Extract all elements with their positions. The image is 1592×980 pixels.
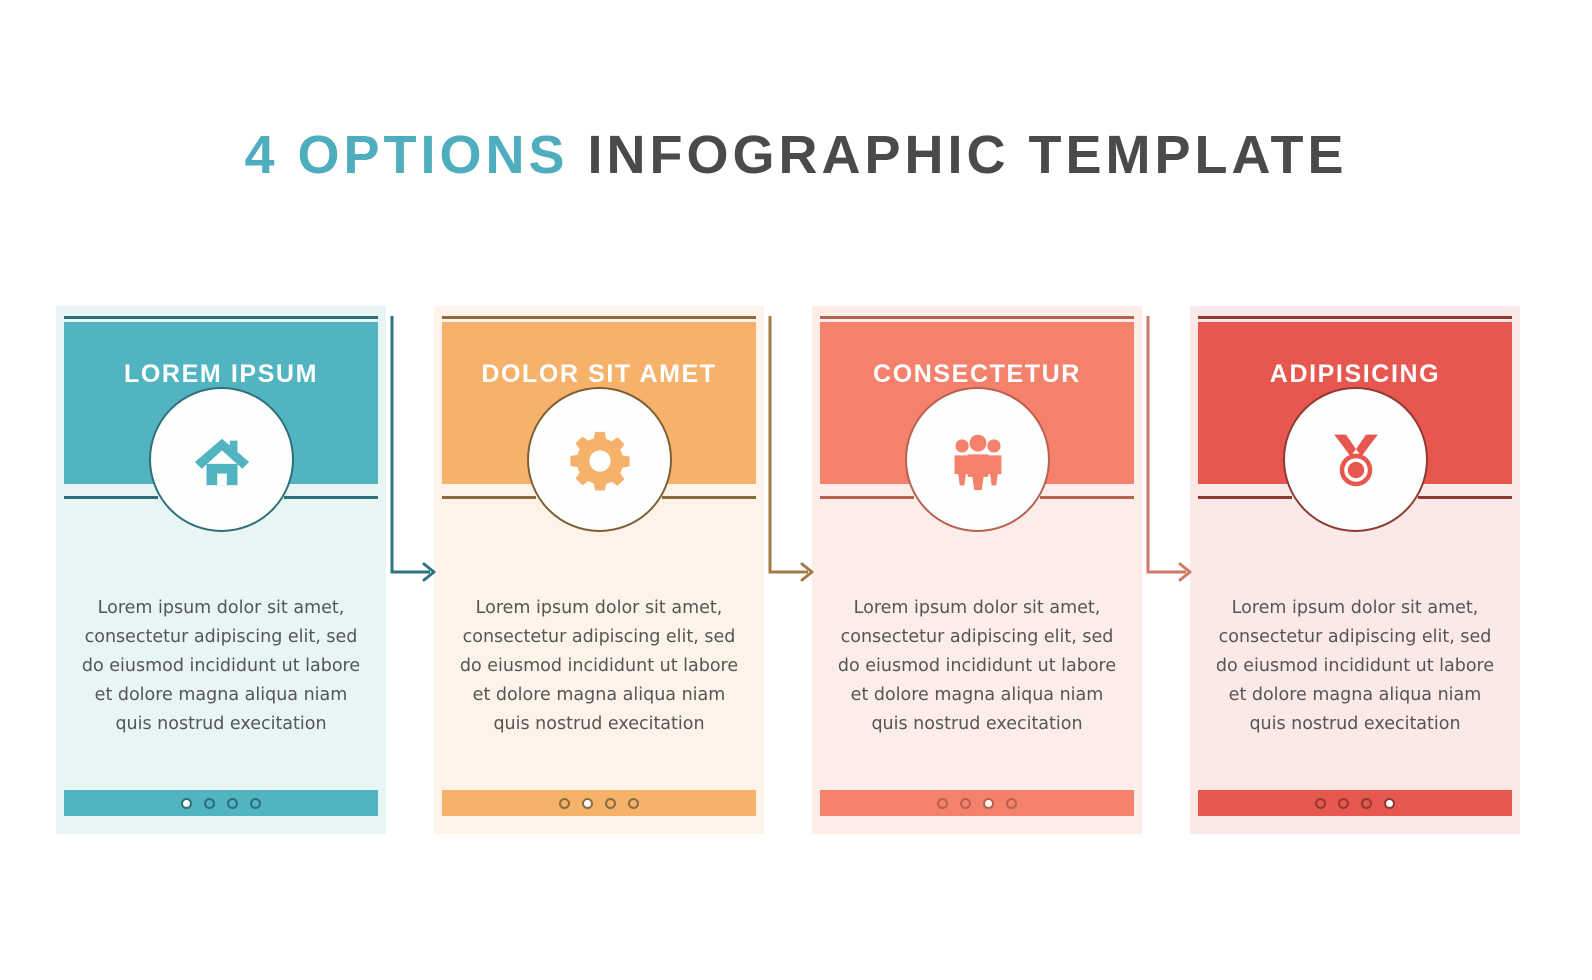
dot-3[interactable] — [983, 798, 994, 809]
people-icon — [948, 430, 1008, 490]
medal-icon — [1327, 431, 1385, 489]
dot-4[interactable] — [250, 798, 261, 809]
card-medallion — [149, 387, 294, 532]
card-rule-top — [64, 316, 378, 319]
dot-1[interactable] — [1315, 798, 1326, 809]
card-title: DOLOR SIT AMET — [442, 360, 756, 389]
option-card-1[interactable]: LOREM IPSUM Lorem ipsum dolor sit amet, … — [56, 300, 386, 834]
home-icon — [191, 429, 253, 491]
page-title-rest: INFOGRAPHIC TEMPLATE — [588, 125, 1348, 185]
card-rule-bottom-right — [662, 496, 756, 499]
card-body-text: Lorem ipsum dolor sit amet, consectetur … — [830, 594, 1124, 739]
card-medallion — [1283, 387, 1428, 532]
card-rule-bottom-right — [284, 496, 378, 499]
dot-4[interactable] — [1006, 798, 1017, 809]
dot-1[interactable] — [937, 798, 948, 809]
card-footer-dots[interactable] — [64, 790, 378, 816]
card-rule-bottom-right — [1040, 496, 1134, 499]
card-footer-dots[interactable] — [442, 790, 756, 816]
dot-2[interactable] — [960, 798, 971, 809]
card-footer-dots[interactable] — [1198, 790, 1512, 816]
dot-1[interactable] — [559, 798, 570, 809]
card-title: CONSECTETUR — [820, 360, 1134, 389]
options-row: LOREM IPSUM Lorem ipsum dolor sit amet, … — [0, 300, 1592, 840]
card-medallion — [905, 387, 1050, 532]
page-title-accent: 4 OPTIONS — [244, 125, 587, 185]
card-body-text: Lorem ipsum dolor sit amet, consectetur … — [74, 594, 368, 739]
gear-icon — [569, 429, 631, 491]
card-rule-bottom-right — [1418, 496, 1512, 499]
card-rule-bottom-left — [820, 496, 914, 499]
card-rule-top — [1198, 316, 1512, 319]
dot-3[interactable] — [227, 798, 238, 809]
page-title: 4 OPTIONS INFOGRAPHIC TEMPLATE — [0, 125, 1592, 185]
card-body-text: Lorem ipsum dolor sit amet, consectetur … — [1208, 594, 1502, 739]
card-body-text: Lorem ipsum dolor sit amet, consectetur … — [452, 594, 746, 739]
card-medallion — [527, 387, 672, 532]
option-card-4[interactable]: ADIPISICING Lorem ipsum dolor sit amet, … — [1190, 300, 1520, 834]
card-rule-bottom-left — [442, 496, 536, 499]
dot-2[interactable] — [1338, 798, 1349, 809]
dot-3[interactable] — [1361, 798, 1372, 809]
card-rule-top — [442, 316, 756, 319]
dot-2[interactable] — [582, 798, 593, 809]
dot-2[interactable] — [204, 798, 215, 809]
card-title: LOREM IPSUM — [64, 360, 378, 389]
dot-4[interactable] — [1384, 798, 1395, 809]
dot-4[interactable] — [628, 798, 639, 809]
card-footer-dots[interactable] — [820, 790, 1134, 816]
dot-3[interactable] — [605, 798, 616, 809]
card-rule-bottom-left — [64, 496, 158, 499]
option-card-2[interactable]: DOLOR SIT AMET Lorem ipsum dolor sit ame… — [434, 300, 764, 834]
card-rule-bottom-left — [1198, 496, 1292, 499]
card-rule-top — [820, 316, 1134, 319]
dot-1[interactable] — [181, 798, 192, 809]
option-card-3[interactable]: CONSECTETUR Lorem ipsum dolor sit amet, … — [812, 300, 1142, 834]
card-title: ADIPISICING — [1198, 360, 1512, 389]
